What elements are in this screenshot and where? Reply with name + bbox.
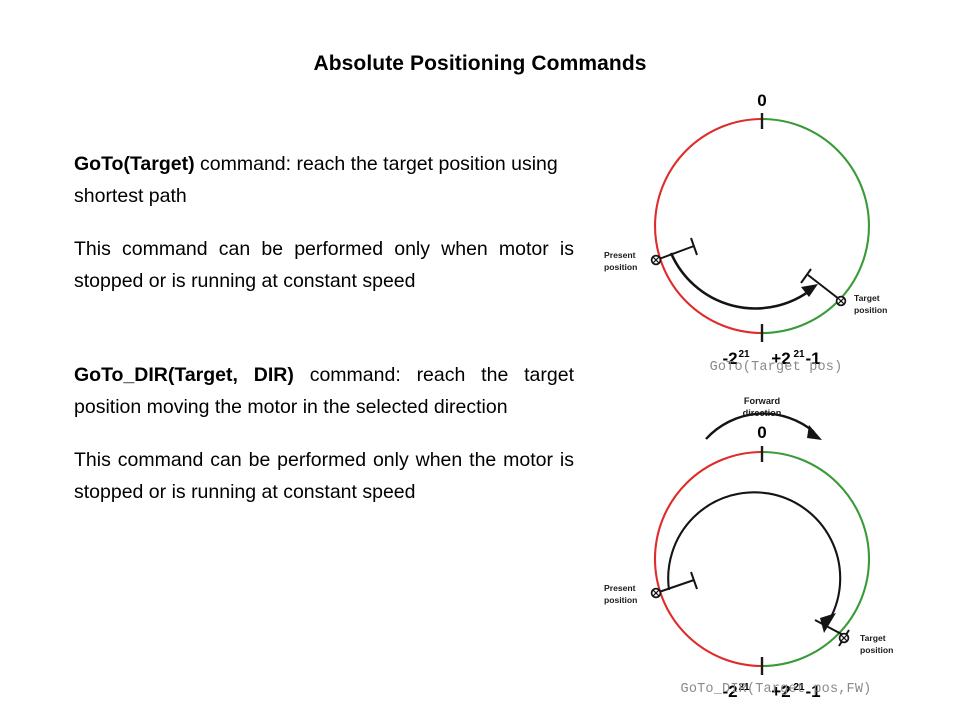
gotodir-figure-caption: GoTo_DIR(Target pos,FW) [596,682,956,697]
page-title: Absolute Positioning Commands [0,52,960,76]
gotodir-command-name: GoTo_DIR(Target, DIR) [74,364,294,386]
paragraph-spacer [74,423,574,444]
present-position-label-line2: position [604,262,637,272]
motion-arrow [671,253,818,308]
gotodir-note: This command can be performed only when … [74,444,574,508]
motion-arc-forward [668,492,840,633]
figure-goto: 0 -2 21 +2 21 -1 Present position Target… [596,86,956,386]
range-positive-exponent: 21 [793,349,805,360]
target-position-label-line1: Target [860,633,886,643]
forward-direction-label-line1: Forward [744,396,780,406]
block-spacer [74,297,574,359]
target-position-label-line2: position [854,305,887,315]
goto-diagram: 0 -2 21 +2 21 -1 Present position Target… [596,86,956,386]
goto-note: This command can be performed only when … [74,233,574,297]
target-position-marker [815,620,849,646]
positive-half-arc [762,452,869,666]
target-position-label-line2: position [860,645,893,655]
figure-gotodir: Forward direction 0 -2 21 +2 21 -1 [596,392,956,712]
goto-command-name: GoTo(Target) [74,153,195,175]
present-position-label-line1: Present [604,250,636,260]
gotodir-diagram: Forward direction 0 -2 21 +2 21 -1 [596,392,956,712]
goto-description: GoTo(Target) command: reach the target p… [74,148,574,212]
goto-figure-caption: GoTo(Target pos) [596,360,956,375]
paragraph-spacer [74,212,574,233]
positive-half-arc [762,119,869,333]
negative-half-arc [655,119,762,333]
zero-label: 0 [757,423,766,442]
range-negative-exponent: 21 [738,349,750,360]
present-position-label-line2: position [604,595,637,605]
target-position-label-line1: Target [854,293,880,303]
text-column: GoTo(Target) command: reach the target p… [74,148,574,508]
gotodir-description: GoTo_DIR(Target, DIR) command: reach the… [74,359,574,423]
present-position-label-line1: Present [604,583,636,593]
zero-label: 0 [757,91,766,110]
